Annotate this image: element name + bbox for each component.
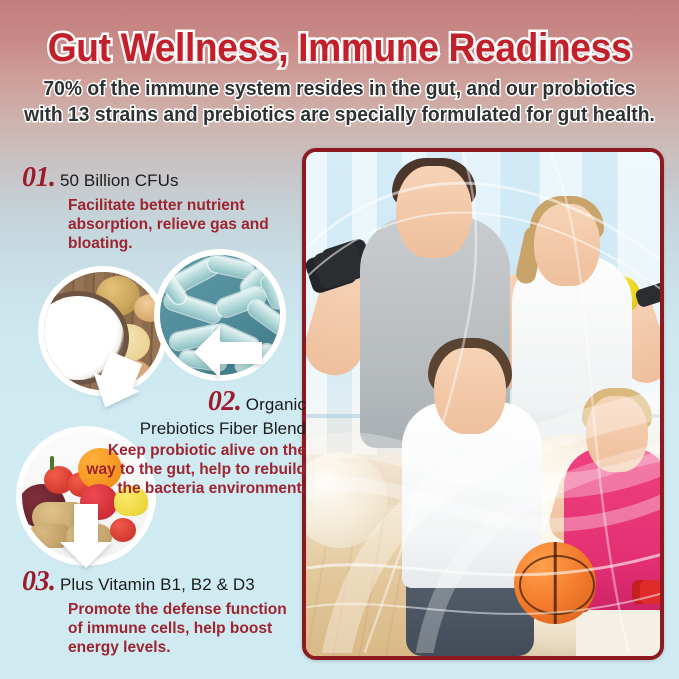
girl-head bbox=[586, 396, 648, 472]
feature-02-heading-line-2: Prebiotics Fiber Blend bbox=[86, 418, 306, 439]
page-title-text: Gut Wellness, Immune Readiness bbox=[48, 26, 632, 70]
onion-item bbox=[134, 294, 162, 322]
feature-01-number: 01. bbox=[22, 162, 56, 194]
arrow-left-icon bbox=[190, 320, 266, 380]
feature-01-body: Facilitate better nutrient absorption, r… bbox=[68, 196, 272, 253]
subtitle: 70% of the immune system resides in the … bbox=[20, 76, 658, 128]
feature-02-title-row: 02. Organic bbox=[86, 386, 306, 418]
boy-head bbox=[434, 348, 506, 434]
feature-02-number: 02. bbox=[208, 386, 242, 418]
feature-02-body: Keep probiotic alive on the way to the g… bbox=[86, 441, 306, 498]
feature-03-number: 03. bbox=[22, 566, 56, 598]
tomato-stem bbox=[50, 456, 54, 470]
feature-item-03: 03. Plus Vitamin B1, B2 & D3 Promote the… bbox=[22, 566, 294, 657]
feature-01-title-row: 01. 50 Billion CFUs bbox=[22, 162, 272, 194]
feature-03-title-row: 03. Plus Vitamin B1, B2 & D3 bbox=[22, 566, 294, 598]
basketball-icon bbox=[514, 542, 596, 624]
mother-head bbox=[534, 204, 600, 286]
feature-02-heading-line-1: Organic bbox=[246, 395, 306, 414]
feature-01-heading: 50 Billion CFUs bbox=[60, 171, 179, 190]
father-head bbox=[396, 166, 472, 258]
feature-item-02: 02. Organic Prebiotics Fiber Blend Keep … bbox=[86, 386, 306, 498]
feature-03-body: Promote the defense function of immune c… bbox=[68, 600, 294, 657]
feature-item-01: 01. 50 Billion CFUs Facilitate better nu… bbox=[22, 162, 272, 253]
page-title: Gut Wellness, Immune Readiness bbox=[24, 26, 655, 70]
arrow-down-icon bbox=[56, 500, 116, 570]
subtitle-line-2: with 13 strains and prebiotics are speci… bbox=[20, 102, 658, 128]
header: Gut Wellness, Immune Readiness 70% of th… bbox=[0, 0, 679, 128]
family-gym-photo bbox=[306, 152, 660, 656]
red-dumbbell-right-icon bbox=[640, 580, 660, 604]
feature-03-heading: Plus Vitamin B1, B2 & D3 bbox=[60, 575, 255, 594]
infographic-poster: Gut Wellness, Immune Readiness 70% of th… bbox=[0, 0, 679, 679]
family-gym-photo-frame bbox=[302, 148, 664, 660]
subtitle-line-1: 70% of the immune system resides in the … bbox=[20, 76, 658, 102]
